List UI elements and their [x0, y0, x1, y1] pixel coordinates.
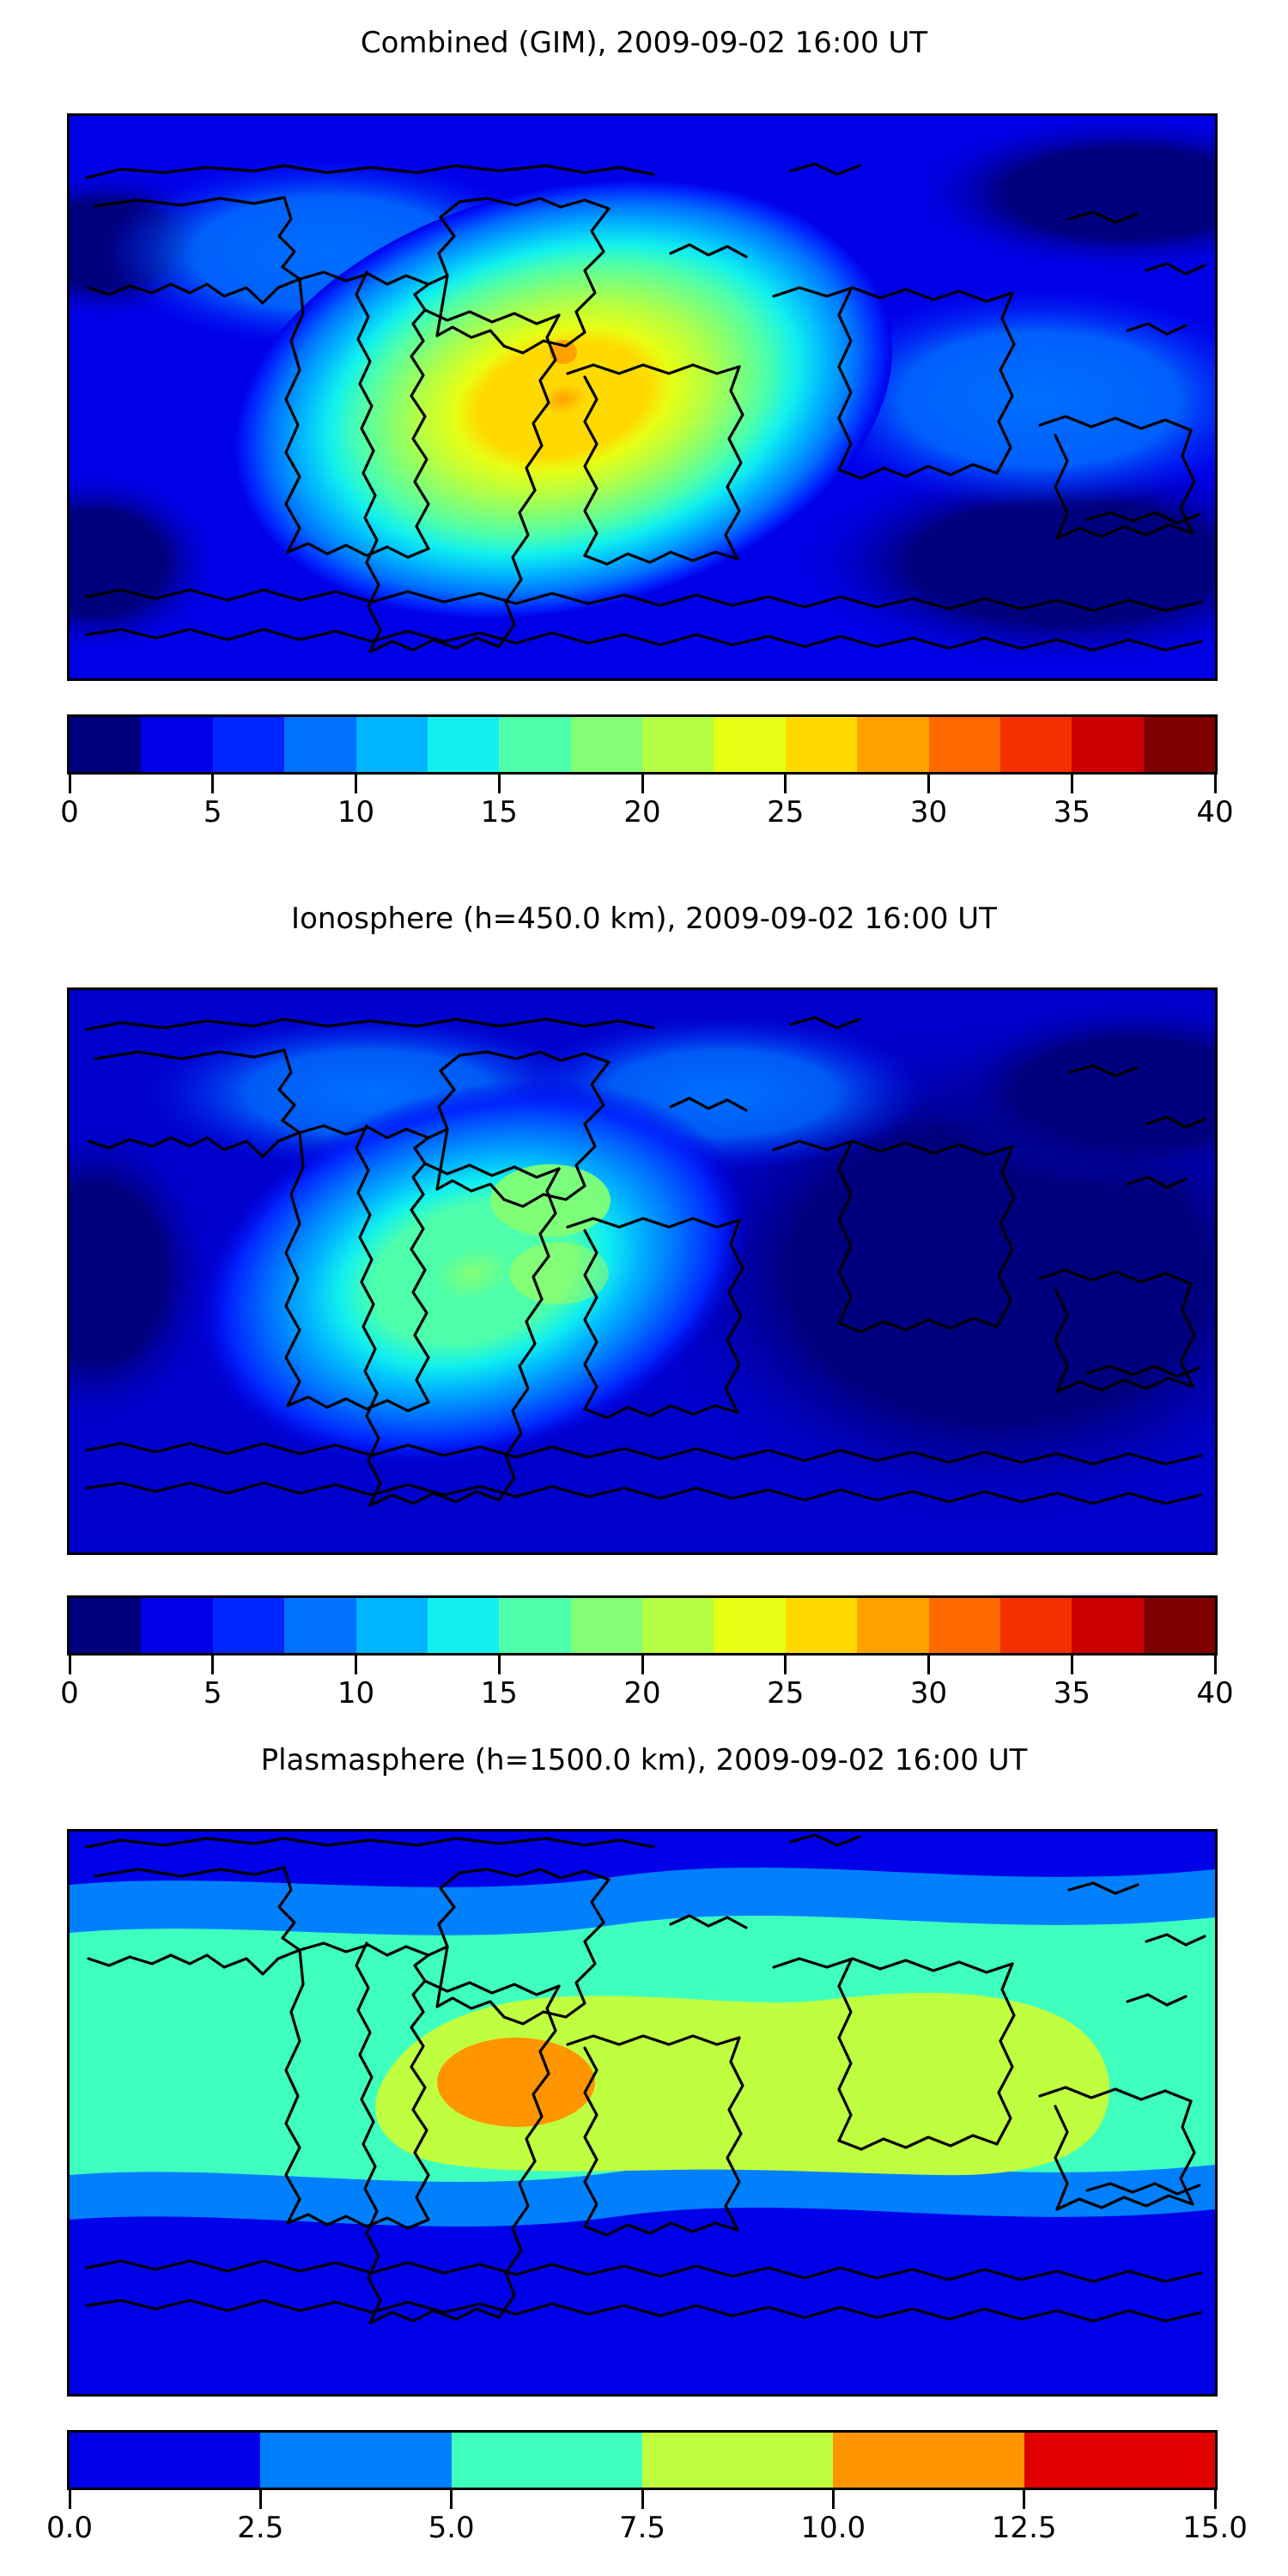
colorbar-plasmasphere-wrap: 0.02.55.07.510.012.515.0 [67, 2430, 1212, 2550]
colorbar-tick-label: 5 [204, 795, 222, 829]
colorbar-band [571, 1598, 642, 1653]
colorbar-tick-label: 20 [623, 1676, 660, 1710]
colorbar-band [786, 1598, 857, 1653]
colorbar-band [714, 717, 785, 772]
colorbar-tick [498, 1656, 501, 1674]
colorbar-ionosphere [67, 1595, 1218, 1656]
colorbar-tick-label: 5.0 [428, 2511, 475, 2545]
colorbar-tick [1071, 1656, 1073, 1674]
map-ionosphere [67, 987, 1218, 1555]
colorbar-combined-ticks [67, 775, 1218, 795]
colorbar-band [428, 1598, 499, 1653]
colorbar-tick-label: 10 [337, 795, 374, 829]
colorbar-tick-label: 0 [60, 1676, 79, 1710]
colorbar-band [70, 1598, 141, 1653]
contour-field-combined [70, 116, 1215, 678]
colorbar-tick-label: 40 [1196, 795, 1233, 829]
colorbar-band [213, 717, 284, 772]
colorbar-tick [1023, 2490, 1025, 2509]
colorbar-tick-label: 2.5 [237, 2511, 283, 2545]
colorbar-band [428, 717, 499, 772]
colorbar-band [356, 717, 428, 772]
colorbar-band [642, 2433, 833, 2488]
colorbar-ionosphere-ticks [67, 1656, 1218, 1676]
colorbar-band [260, 2433, 451, 2488]
colorbar-band [1072, 1598, 1143, 1653]
colorbar-tick [1214, 775, 1217, 793]
colorbar-tick-label: 0.0 [46, 2511, 93, 2545]
colorbar-tick [69, 2490, 71, 2509]
colorbar-tick [211, 775, 214, 793]
colorbar-tick [641, 775, 644, 793]
colorbar-band [141, 1598, 212, 1653]
colorbar-tick [259, 2490, 262, 2509]
colorbar-band [70, 717, 141, 772]
colorbar-band [1072, 717, 1143, 772]
colorbar-band [284, 1598, 355, 1653]
colorbar-band [356, 1598, 428, 1653]
colorbar-tick [784, 775, 787, 793]
colorbar-band [1144, 717, 1215, 772]
colorbar-tick [211, 1656, 214, 1674]
colorbar-band [857, 1598, 928, 1653]
colorbar-tick-label: 30 [910, 795, 947, 829]
colorbar-tick [832, 2490, 835, 2509]
colorbar-band [284, 717, 355, 772]
panel-plasmasphere: Plasmasphere (h=1500.0 km), 2009-09-02 1… [0, 1717, 1288, 2576]
colorbar-tick-label: 12.5 [992, 2511, 1057, 2545]
colorbar-tick-label: 15.0 [1182, 2511, 1248, 2545]
colorbar-tick-label: 15 [481, 1676, 518, 1710]
colorbar-ionosphere-labels: 0510152025303540 [67, 1676, 1218, 1716]
colorbar-tick-label: 5 [204, 1676, 222, 1710]
colorbar-tick [498, 775, 501, 793]
colorbar-tick-label: 40 [1196, 1676, 1233, 1710]
colorbar-band [642, 717, 714, 772]
colorbar-tick [641, 2490, 644, 2509]
map-canvas-combined [70, 116, 1215, 678]
colorbar-tick [450, 2490, 453, 2509]
map-canvas-plasmasphere [70, 1832, 1215, 2394]
colorbar-plasmasphere-labels: 0.02.55.07.510.012.515.0 [67, 2511, 1218, 2550]
colorbar-tick-label: 25 [767, 1676, 804, 1710]
colorbar-tick-label: 35 [1054, 1676, 1091, 1710]
colorbar-tick [784, 1656, 787, 1674]
contour-field-plasmasphere [70, 1832, 1215, 2394]
colorbar-tick-label: 15 [481, 795, 518, 829]
map-plasmasphere [67, 1829, 1218, 2397]
colorbar-band [1144, 1598, 1215, 1653]
colorbar-tick [355, 775, 357, 793]
colorbar-tick [927, 1656, 930, 1674]
colorbar-band [213, 1598, 284, 1653]
colorbar-band [499, 717, 570, 772]
colorbar-combined [67, 714, 1218, 775]
colorbar-band [499, 1598, 570, 1653]
colorbar-band [857, 717, 928, 772]
colorbar-band [571, 717, 642, 772]
map-canvas-ionosphere [70, 990, 1215, 1552]
colorbar-tick [1214, 2490, 1217, 2509]
colorbar-combined-labels: 0510152025303540 [67, 795, 1218, 835]
colorbar-tick-label: 7.5 [619, 2511, 665, 2545]
colorbar-tick-label: 25 [767, 795, 804, 829]
colorbar-band [70, 2433, 260, 2488]
colorbar-band [929, 717, 1000, 772]
colorbar-band [1024, 2433, 1215, 2488]
figure-root: Combined (GIM), 2009-09-02 16:00 UT [0, 0, 1288, 2576]
colorbar-tick-label: 35 [1054, 795, 1091, 829]
colorbar-tick-label: 0 [60, 795, 79, 829]
contour-field-ionosphere [70, 990, 1215, 1552]
colorbar-band [642, 1598, 714, 1653]
colorbar-tick-label: 20 [623, 795, 660, 829]
colorbar-ionosphere-wrap: 0510152025303540 [67, 1595, 1212, 1716]
colorbar-tick-label: 30 [910, 1676, 947, 1710]
colorbar-tick-label: 10 [337, 1676, 374, 1710]
panel-combined-gim: Combined (GIM), 2009-09-02 16:00 UT [0, 0, 1288, 859]
colorbar-tick [1071, 775, 1073, 793]
colorbar-band [929, 1598, 1000, 1653]
colorbar-band [714, 1598, 785, 1653]
colorbar-combined-wrap: 0510152025303540 [67, 714, 1212, 835]
colorbar-band [786, 717, 857, 772]
colorbar-tick [641, 1656, 644, 1674]
colorbar-tick [1214, 1656, 1217, 1674]
colorbar-band [833, 2433, 1024, 2488]
colorbar-band [452, 2433, 642, 2488]
colorbar-tick [69, 775, 71, 793]
colorbar-band [1000, 1598, 1072, 1653]
colorbar-tick-label: 10.0 [800, 2511, 866, 2545]
map-combined-gim [67, 113, 1218, 681]
panel-ionosphere: Ionosphere (h=450.0 km), 2009-09-02 16:0… [0, 859, 1288, 1717]
colorbar-tick [355, 1656, 357, 1674]
colorbar-tick [69, 1656, 71, 1674]
panel-title-ionosphere: Ionosphere (h=450.0 km), 2009-09-02 16:0… [0, 902, 1288, 936]
colorbar-tick [927, 775, 930, 793]
panel-title-combined: Combined (GIM), 2009-09-02 16:00 UT [0, 26, 1288, 60]
colorbar-plasmasphere [67, 2430, 1218, 2490]
colorbar-band [141, 717, 212, 772]
panel-title-plasmasphere: Plasmasphere (h=1500.0 km), 2009-09-02 1… [0, 1743, 1288, 1777]
colorbar-band [1000, 717, 1072, 772]
colorbar-plasmasphere-ticks [67, 2490, 1218, 2511]
